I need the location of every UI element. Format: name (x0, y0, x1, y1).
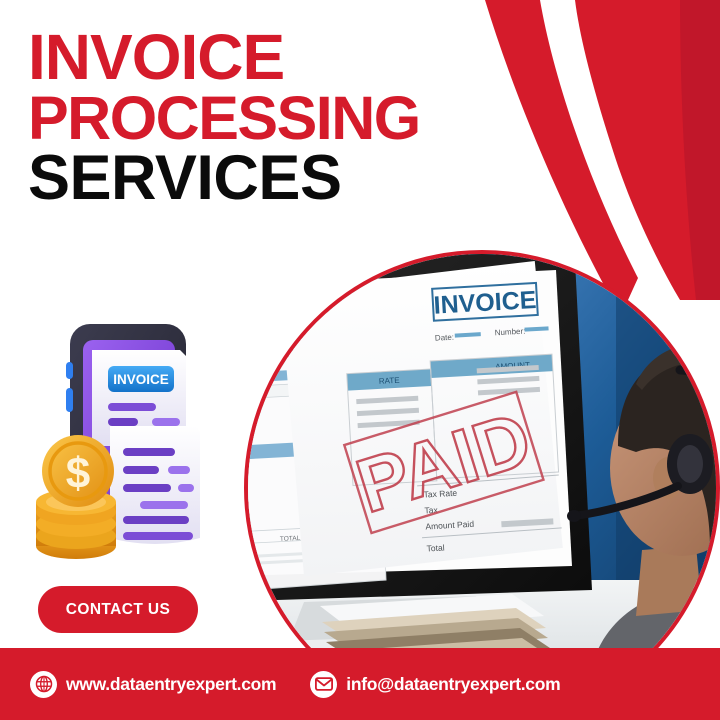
contact-us-button[interactable]: CONTACT US (38, 586, 198, 633)
dollar-symbol: $ (66, 449, 90, 498)
coin-dollar: $ (42, 435, 114, 507)
invoice-date-label: Date: (435, 333, 455, 343)
invoice-phone-coins-illustration: INVOICE (28, 318, 243, 568)
screen-invoice: Invoice AMOUNT 300.00 145.00 40.00 74.37… (248, 260, 564, 592)
main-invoice: INVOICE Date: Number: RATE AMOUNT (279, 260, 563, 576)
svg-text:TOTAL: TOTAL (280, 535, 301, 543)
footer-email[interactable]: info@dataentryexpert.com (310, 671, 560, 698)
col-rate: RATE (379, 376, 400, 386)
envelope-icon (310, 671, 337, 698)
footer-email-text: info@dataentryexpert.com (346, 674, 560, 695)
phone-button-upper (66, 362, 73, 379)
footer-website[interactable]: www.dataentryexpert.com (30, 671, 276, 698)
headline-line-3: SERVICES (28, 148, 458, 210)
footer-bar: www.dataentryexpert.com info@dataentryex… (0, 648, 720, 720)
row-total: Total (426, 542, 445, 553)
headline-block: INVOICE PROCESSING SERVICES (28, 26, 458, 210)
headline-line-2: PROCESSING (28, 89, 458, 149)
globe-icon (30, 671, 57, 698)
invoice-badge-label: INVOICE (113, 372, 169, 387)
footer-website-text: www.dataentryexpert.com (66, 674, 276, 695)
invoice-number-label: Number: (494, 327, 525, 338)
poster-canvas: INVOICE PROCESSING SERVICES (0, 0, 720, 720)
headline-line-1: INVOICE (28, 26, 458, 89)
invoice-title: INVOICE (433, 286, 537, 320)
phone-button-lower (66, 388, 73, 412)
